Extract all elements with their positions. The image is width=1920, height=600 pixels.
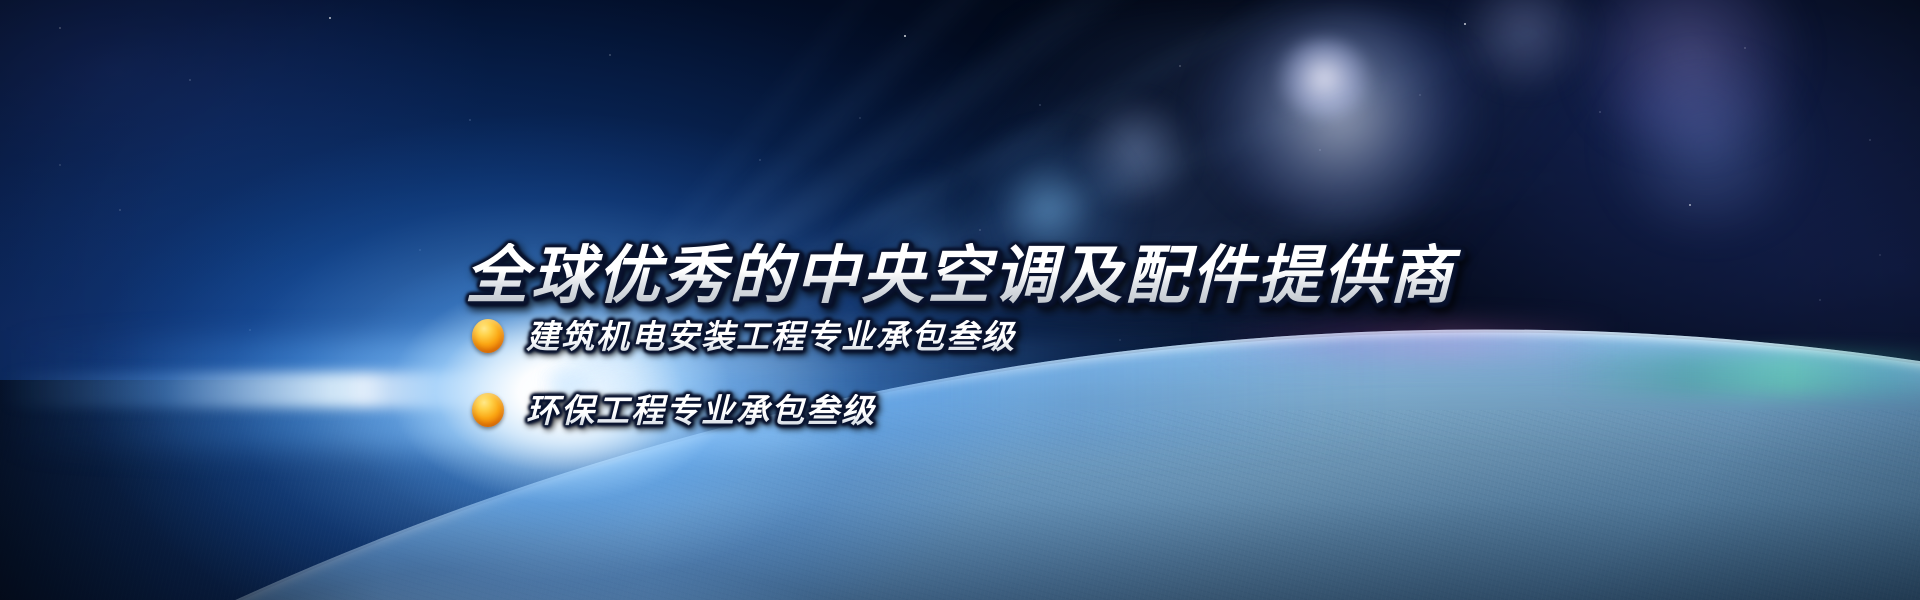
hero-banner: 全球优秀的中央空调及配件提供商 建筑机电安装工程专业承包叁级 环保工程专业承包叁… <box>0 0 1920 600</box>
orange-dot-icon <box>472 393 504 427</box>
orange-dot-icon <box>472 319 504 353</box>
banner-feature-list: 建筑机电安装工程专业承包叁级 环保工程专业承包叁级 <box>472 308 1372 456</box>
feature-label: 环保工程专业承包叁级 <box>526 394 876 427</box>
list-item: 建筑机电安装工程专业承包叁级 <box>472 308 1372 364</box>
list-item: 环保工程专业承包叁级 <box>472 382 1372 438</box>
banner-headline: 全球优秀的中央空调及配件提供商 <box>0 243 1920 309</box>
banner-content: 全球优秀的中央空调及配件提供商 建筑机电安装工程专业承包叁级 环保工程专业承包叁… <box>0 0 1920 600</box>
feature-label: 建筑机电安装工程专业承包叁级 <box>526 320 1016 353</box>
